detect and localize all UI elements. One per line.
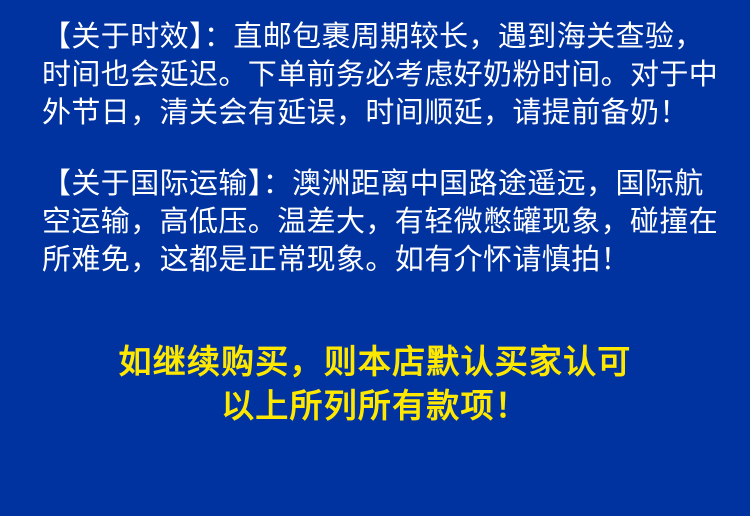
notice-line: 时间也会延迟。下单前务必考虑好奶粉时间。对于中 bbox=[42, 56, 720, 94]
notice-line: 空运输，高低压。温差大，有轻微憋罐现象，碰撞在 bbox=[42, 203, 720, 241]
notice-line: 【关于时效】：直邮包裹周期较长，遇到海关查验， bbox=[42, 18, 720, 56]
notice-line: 所难免，这都是正常现象。如有介怀请慎拍！ bbox=[42, 241, 720, 279]
notice-line: 外节日，清关会有延误，时间顺延，请提前备奶！ bbox=[42, 94, 720, 132]
notice-block-shipping-time: 【关于时效】：直邮包裹周期较长，遇到海关查验， 时间也会延迟。下单前务必考虑好奶… bbox=[42, 18, 720, 132]
agreement-statement: 如继续购买，则本店默认买家认可 以上所列所有款项！ bbox=[0, 340, 750, 428]
notice-line: 【关于国际运输】：澳洲距离中国路途遥远，国际航 bbox=[42, 165, 720, 203]
agreement-line: 如继续购买，则本店默认买家认可 bbox=[0, 340, 750, 384]
notice-block-international-transport: 【关于国际运输】：澳洲距离中国路途遥远，国际航 空运输，高低压。温差大，有轻微憋… bbox=[42, 165, 720, 279]
agreement-line: 以上所列所有款项！ bbox=[0, 384, 750, 428]
shipping-notice-banner: 【关于时效】：直邮包裹周期较长，遇到海关查验， 时间也会延迟。下单前务必考虑好奶… bbox=[0, 0, 750, 516]
